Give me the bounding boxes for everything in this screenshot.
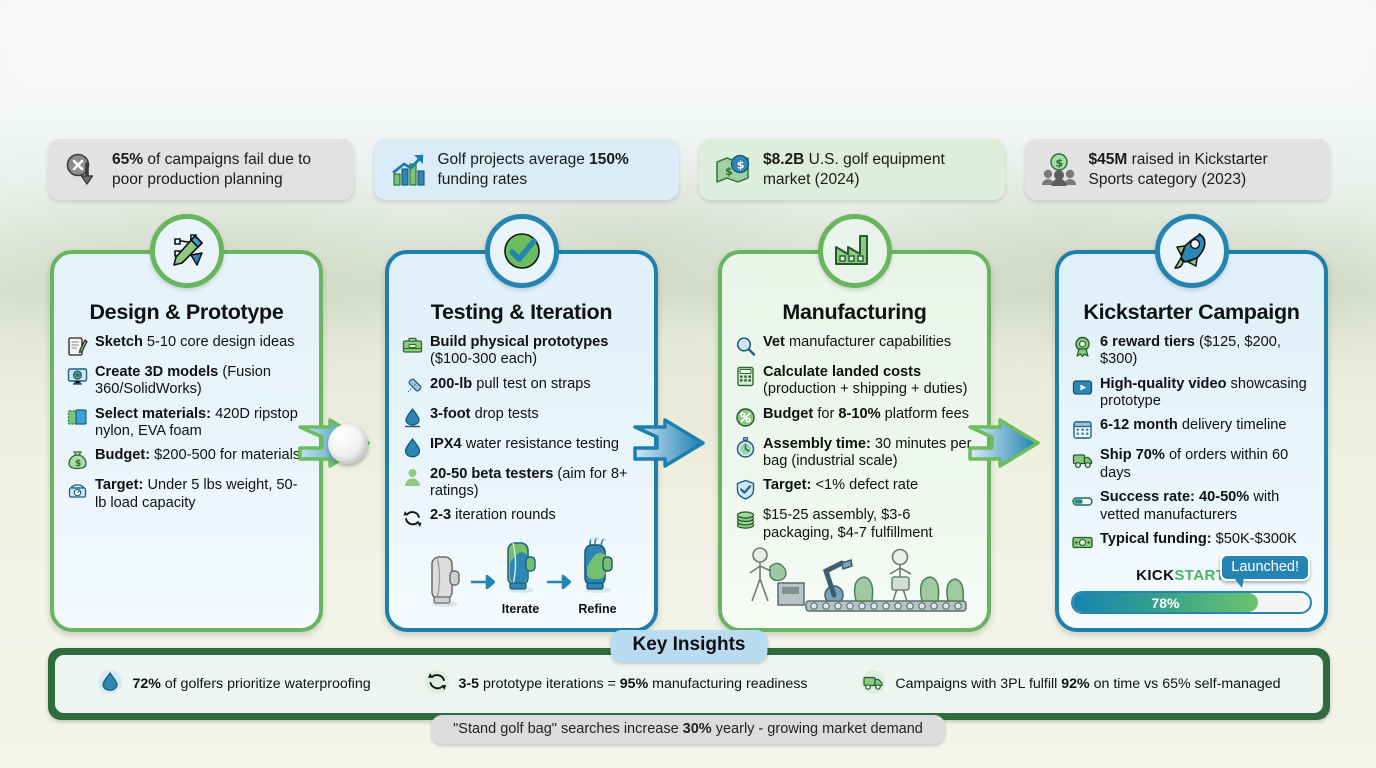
item-bold: Budget: <box>95 447 150 463</box>
item-bold: 20-50 beta testers <box>430 466 553 482</box>
golf-ball-icon <box>328 424 368 464</box>
card-title: Kickstarter Campaign <box>1071 300 1312 325</box>
factory-icon <box>818 214 892 288</box>
list-item-text: 6 reward tiers ($125, $200, $300) <box>1100 334 1312 369</box>
kickstarter-progress-widget: KICKSTARTER Launched! 78% <box>1071 567 1312 614</box>
list-item: Ship 70% of orders within 60 days <box>1071 447 1312 482</box>
list-item: 6-12 month delivery timeline <box>1071 417 1312 440</box>
insight-bold: 72% <box>132 676 160 692</box>
key-insights-footer: Key Insights 72% of golfers prioritize w… <box>48 648 1330 720</box>
card-title: Design & Prototype <box>66 300 307 325</box>
item-bold: 200-lb <box>430 376 472 392</box>
item-bold: 3-foot <box>430 406 471 422</box>
list-item: Sketch 5-10 core design ideas <box>66 334 307 357</box>
list-item-text: 3-foot drop tests <box>430 406 539 423</box>
list-item-text: Typical funding: $50K-$300K <box>1100 531 1297 548</box>
item-bold: Budget <box>763 406 813 422</box>
list-item-text: Assembly time: 30 minutes per bag (indus… <box>763 436 975 471</box>
list-item: Target: <1% defect rate <box>734 477 975 500</box>
shield-check-icon <box>734 478 756 500</box>
list-item: Success rate: 40-50% with vetted manufac… <box>1071 489 1312 524</box>
phase-card-design-prototype[interactable]: Design & Prototype Sketch 5-10 core desi… <box>50 250 323 632</box>
people-dollar-icon: $ <box>1039 150 1079 190</box>
stat-text: 65% of campaigns fail due to poor produc… <box>112 150 340 190</box>
list-item: 3-foot drop tests <box>401 406 642 429</box>
kickstarter-logo-part1: KICK <box>1136 567 1174 584</box>
phase-card-kickstarter-campaign[interactable]: Kickstarter Campaign 6 reward tiers ($12… <box>1055 250 1328 632</box>
insight-mid: prototype iterations = <box>479 676 620 692</box>
money-map-dollar-icon: $ $ <box>713 150 753 190</box>
insight-bold: 3-5 <box>459 676 480 692</box>
toolbox-icon <box>401 335 423 357</box>
key-insight-waterproofing: 72% of golfers prioritize waterproofing <box>97 669 370 700</box>
stat-strip: 65% of campaigns fail due to poor produc… <box>48 139 1330 200</box>
item-rest: platform fees <box>881 406 969 422</box>
stat-rest: funding rates <box>438 171 528 188</box>
item-bold: High-quality video <box>1100 376 1226 392</box>
phase-card-manufacturing[interactable]: Manufacturing Vet manufacturer capabilit… <box>718 250 991 632</box>
list-item-text: Budget: $200-500 for materials <box>95 447 300 464</box>
rocket-icon <box>1155 214 1229 288</box>
money-bag-icon: $ <box>66 448 88 470</box>
list-item-text: Select materials: 420D ripstop nylon, EV… <box>95 406 307 441</box>
svg-text:$: $ <box>1055 156 1063 169</box>
percent-badge-icon <box>734 407 756 429</box>
stat-bold-value: 65% <box>112 151 143 168</box>
stat-card-funding-rate: Golf projects average 150% funding rates <box>374 139 680 200</box>
funding-progress-fill: 78% <box>1073 593 1258 612</box>
connector-arrow-2 <box>633 415 711 473</box>
monitor-3d-icon <box>66 365 88 387</box>
item-bold: Sketch <box>95 334 143 350</box>
list-item: Typical funding: $50K-$300K <box>1071 531 1312 554</box>
stopwatch-icon <box>734 437 756 459</box>
item-bold: Calculate landed costs <box>763 364 921 380</box>
item-mid: for <box>813 406 838 422</box>
magnifier-icon <box>734 335 756 357</box>
list-item: $15-25 assembly, $3-6 packaging, $4-7 fu… <box>734 507 975 542</box>
funding-progress-label: 78% <box>1151 595 1179 611</box>
insight-bold2: 95% <box>620 676 648 692</box>
key-insights-badge: Key Insights <box>611 630 768 662</box>
stat-bold-value: $45M <box>1089 151 1128 168</box>
connector-arrow-3 <box>968 415 1046 473</box>
svg-text:$: $ <box>75 459 81 469</box>
stat-text: Golf projects average 150% funding rates <box>438 150 666 190</box>
footnote-bold: 30% <box>683 721 712 737</box>
list-item-text: Build physical prototypes ($100-300 each… <box>430 334 642 369</box>
list-item-text: $15-25 assembly, $3-6 packaging, $4-7 fu… <box>763 507 975 542</box>
bag-caption: Refine <box>577 602 619 616</box>
calculator-icon <box>734 365 756 387</box>
list-item-text: Success rate: 40-50% with vetted manufac… <box>1100 489 1312 524</box>
item-bold2: 8-10% <box>838 406 880 422</box>
arrow-right-icon <box>547 575 571 594</box>
list-item-text: Ship 70% of orders within 60 days <box>1100 447 1312 482</box>
list-item-text: High-quality video showcasing prototype <box>1100 376 1312 411</box>
stat-bold-value: $8.2B <box>763 151 804 168</box>
item-rest: delivery timeline <box>1178 417 1287 433</box>
funding-progress-bar: 78% <box>1071 591 1312 614</box>
key-insight-iterations: 3-5 prototype iterations = 95% manufactu… <box>424 669 808 700</box>
list-item: Calculate landed costs (production + shi… <box>734 364 975 399</box>
list-item: IPX4 water resistance testing <box>401 436 642 459</box>
key-insights-row: 72% of golfers prioritize waterproofing … <box>55 655 1323 713</box>
card-item-list: Sketch 5-10 core design ideas Create 3D … <box>66 334 307 512</box>
key-insight-text: Campaigns with 3PL fulfill 92% on time v… <box>895 676 1280 692</box>
card-item-list: 6 reward tiers ($125, $200, $300) High-q… <box>1071 334 1312 554</box>
card-title: Manufacturing <box>734 300 975 325</box>
item-bold: Typical funding: <box>1100 531 1212 547</box>
insight-bold: 92% <box>1061 676 1089 692</box>
assembly-line-graphic <box>734 545 975 618</box>
item-rest: $200-500 for materials <box>150 447 300 463</box>
list-item-text: 2-3 iteration rounds <box>430 507 556 524</box>
item-rest: (production + shipping + duties) <box>763 381 967 397</box>
pencil-design-icon <box>150 214 224 288</box>
coin-stack-icon <box>734 508 756 530</box>
list-item: Build physical prototypes ($100-300 each… <box>401 334 642 369</box>
key-insight-text: 72% of golfers prioritize waterproofing <box>132 676 370 692</box>
item-bold: Ship 70% <box>1100 447 1165 463</box>
insight-pre: Campaigns with 3PL fulfill <box>895 676 1061 692</box>
award-rosette-icon <box>1071 335 1093 357</box>
failed-circle-down-arrow-icon <box>62 150 102 190</box>
item-bold: 2-3 <box>430 507 451 523</box>
arrow-right-icon <box>471 575 495 594</box>
bag-stage-iterate: Iterate <box>501 537 541 616</box>
item-bold: 6 reward tiers <box>1100 334 1195 350</box>
calendar-icon <box>1071 418 1093 440</box>
insight-rest: of golfers prioritize waterproofing <box>161 676 371 692</box>
key-insight-text: 3-5 prototype iterations = 95% manufactu… <box>459 676 808 692</box>
item-rest: $15-25 assembly, $3-6 packaging, $4-7 fu… <box>763 507 933 540</box>
bar-chart-up-icon <box>388 150 428 190</box>
delivery-truck-icon <box>1071 448 1093 470</box>
footnote-market-demand: "Stand golf bag" searches increase 30% y… <box>431 715 945 744</box>
item-bold: Create 3D models <box>95 364 218 380</box>
item-rest: <1% defect rate <box>811 477 918 493</box>
list-item: High-quality video showcasing prototype <box>1071 376 1312 411</box>
item-bold: 6-12 month <box>1100 417 1178 433</box>
water-drop-icon <box>401 437 423 459</box>
stat-text: $8.2B U.S. golf equipment market (2024) <box>763 150 991 190</box>
stat-card-kickstarter-raised: $ $45M raised in Kickstarter Sports cate… <box>1025 139 1331 200</box>
card-item-list: Build physical prototypes ($100-300 each… <box>401 334 642 530</box>
list-item: Select materials: 420D ripstop nylon, EV… <box>66 406 307 441</box>
stat-card-failure-rate: 65% of campaigns fail due to poor produc… <box>48 139 354 200</box>
insight-rest: manufacturing readiness <box>648 676 807 692</box>
list-item: Assembly time: 30 minutes per bag (indus… <box>734 436 975 471</box>
list-item-text: Sketch 5-10 core design ideas <box>95 334 295 351</box>
list-item-text: IPX4 water resistance testing <box>430 436 619 453</box>
item-rest: iteration rounds <box>451 507 556 523</box>
bag-caption: Iterate <box>501 602 541 616</box>
list-item-text: Target: <1% defect rate <box>763 477 918 494</box>
sketchpad-icon <box>66 335 88 357</box>
drop-impact-icon <box>401 407 423 429</box>
item-rest: ($100-300 each) <box>430 351 537 367</box>
list-item: 2-3 iteration rounds <box>401 507 642 530</box>
list-item-text: Budget for 8-10% platform fees <box>763 406 969 423</box>
footnote-pre: "Stand golf bag" searches increase <box>453 721 683 737</box>
key-insight-3pl: Campaigns with 3PL fulfill 92% on time v… <box>860 669 1280 700</box>
water-drop-icon <box>97 669 123 700</box>
list-item: 200-lb pull test on straps <box>401 376 642 399</box>
item-bold: Target: <box>763 477 811 493</box>
list-item: Budget for 8-10% platform fees <box>734 406 975 429</box>
progress-pill-icon <box>1071 490 1093 512</box>
iteration-progression-graphic: Iterate Refine <box>403 537 640 616</box>
bag-stage-plain <box>425 551 465 616</box>
stat-text: $45M raised in Kickstarter Sports catego… <box>1089 150 1317 190</box>
video-play-icon <box>1071 377 1093 399</box>
person-icon <box>401 467 423 489</box>
bag-stage-refine: Refine <box>577 537 619 616</box>
item-bold: Vet <box>763 334 785 350</box>
item-bold: Assembly time: <box>763 436 871 452</box>
list-item-text: Target: Under 5 lbs weight, 50-lb load c… <box>95 477 307 512</box>
insight-rest: on time vs 65% self-managed <box>1090 676 1281 692</box>
card-title: Testing & Iteration <box>401 300 642 325</box>
cash-icon <box>1071 532 1093 554</box>
item-rest: 5-10 core design ideas <box>143 334 295 350</box>
item-rest: $50K-$300K <box>1212 531 1297 547</box>
refresh-cycle-icon <box>424 669 450 700</box>
item-rest: water resistance testing <box>462 436 619 452</box>
item-bold: Select materials: <box>95 406 211 422</box>
item-bold: Success rate: 40-50% <box>1100 489 1249 505</box>
pull-test-icon <box>401 377 423 399</box>
card-item-list: Vet manufacturer capabilities Calculate … <box>734 334 975 542</box>
footnote-post: yearly - growing market demand <box>712 721 923 737</box>
list-item-text: 6-12 month delivery timeline <box>1100 417 1287 434</box>
list-item: Target: Under 5 lbs weight, 50-lb load c… <box>66 477 307 512</box>
stat-card-market-size: $ $ $8.2B U.S. golf equipment market (20… <box>699 139 1005 200</box>
stat-pre: Golf projects average <box>438 151 590 168</box>
list-item-text: Calculate landed costs (production + shi… <box>763 364 975 399</box>
item-bold: IPX4 <box>430 436 462 452</box>
item-rest: drop tests <box>471 406 539 422</box>
scale-icon <box>66 478 88 500</box>
refresh-cycle-icon <box>401 508 423 530</box>
list-item-text: 200-lb pull test on straps <box>430 376 591 393</box>
fabric-swatch-icon <box>66 407 88 429</box>
list-item-text: Create 3D models (Fusion 360/SolidWorks) <box>95 364 307 399</box>
svg-text:$: $ <box>737 158 745 171</box>
list-item: Vet manufacturer capabilities <box>734 334 975 357</box>
item-bold: Target: <box>95 477 143 493</box>
item-rest: manufacturer capabilities <box>785 334 951 350</box>
list-item: 20-50 beta testers (aim for 8+ ratings) <box>401 466 642 501</box>
item-bold: Build physical prototypes <box>430 334 608 350</box>
phase-card-testing-iteration[interactable]: Testing & Iteration Build physical proto… <box>385 250 658 632</box>
check-circle-icon <box>485 214 559 288</box>
stat-bold-value: 150% <box>589 151 629 168</box>
launched-badge: Launched! <box>1220 554 1310 581</box>
list-item: 6 reward tiers ($125, $200, $300) <box>1071 334 1312 369</box>
delivery-truck-icon <box>860 669 886 700</box>
list-item: Create 3D models (Fusion 360/SolidWorks) <box>66 364 307 399</box>
list-item: $ Budget: $200-500 for materials <box>66 447 307 470</box>
list-item-text: Vet manufacturer capabilities <box>763 334 951 351</box>
infographic-page: From Prototype to Production: Your Golf … <box>0 0 1376 768</box>
list-item-text: 20-50 beta testers (aim for 8+ ratings) <box>430 466 642 501</box>
item-rest: pull test on straps <box>472 376 590 392</box>
